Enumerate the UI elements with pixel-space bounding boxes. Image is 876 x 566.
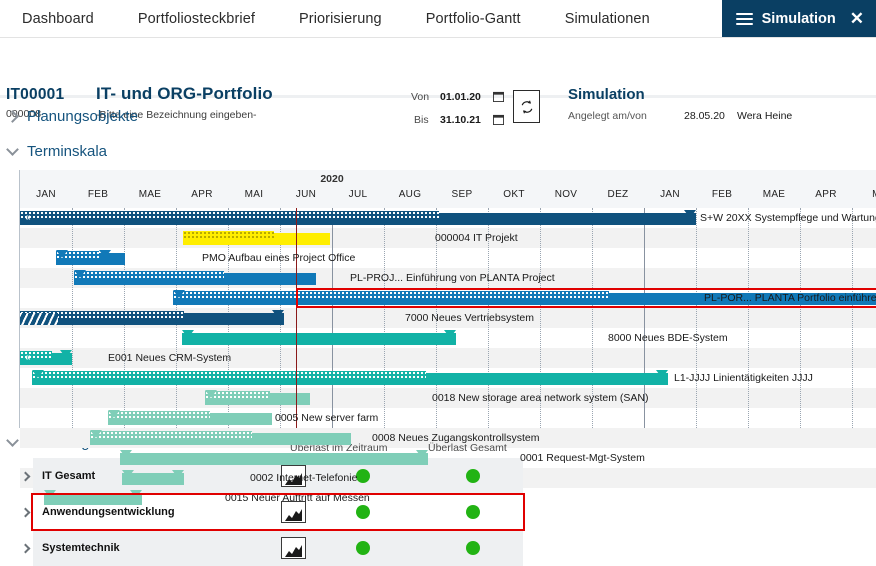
- refresh-icon: [519, 99, 535, 115]
- status-badge-zeitraum: [356, 541, 370, 555]
- gantt-milestone-start-icon: [56, 250, 68, 258]
- section-terminskala[interactable]: Terminskala: [8, 143, 107, 160]
- tab-dashboard[interactable]: Dashboard: [0, 0, 116, 37]
- tab-portfoliosteckbrief[interactable]: Portfoliosteckbrief: [116, 0, 277, 37]
- gantt-gridline: [384, 208, 385, 428]
- gantt-month-label: M.: [852, 189, 876, 200]
- simulation-title: Simulation: [568, 86, 645, 103]
- gantt-gridline: [800, 208, 801, 428]
- gantt-milestone-end-icon: [60, 350, 72, 358]
- gantt-bar[interactable]: [120, 453, 428, 465]
- dept-name: IT Gesamt: [42, 470, 95, 482]
- gantt-gridline: [748, 208, 749, 428]
- status-badge-gesamt: [466, 541, 480, 555]
- tab-simulation-active[interactable]: Simulation ✕: [722, 0, 876, 37]
- gantt-bar-label: 0001 Request-Mgt-System: [520, 452, 645, 464]
- gantt-milestone-start-icon: [32, 370, 44, 378]
- gantt-month-label: JAN: [20, 189, 72, 200]
- record-header: IT00001 000008 IT- und ORG-Portfolio -Bi…: [0, 38, 876, 98]
- gantt-bar-label: E001 Neues CRM-System: [108, 352, 231, 364]
- gantt-bar-baseline: [173, 291, 609, 298]
- gantt-milestone-end-icon: [684, 210, 696, 218]
- gantt-month-label: DEZ: [592, 189, 644, 200]
- chevron-right-icon[interactable]: [21, 507, 31, 517]
- gantt-bar-baseline: [20, 211, 439, 218]
- gantt-year-label: 2020: [280, 173, 384, 185]
- gantt-bar-label: L1-JJJJ Linientätigkeiten JJJJ: [674, 372, 813, 384]
- calendar-icon[interactable]: [493, 91, 504, 102]
- gantt-month-label: JAN: [644, 189, 696, 200]
- from-value[interactable]: 01.01.20: [440, 91, 481, 103]
- gantt-milestone-start-icon: [44, 490, 56, 498]
- dept-name: Anwendungsentwicklung: [42, 506, 175, 518]
- created-label: Angelegt am/von: [568, 110, 647, 122]
- created-date: 28.05.20: [684, 110, 725, 122]
- gantt-milestone-end-icon: [656, 370, 668, 378]
- gantt-month-label: APR: [176, 189, 228, 200]
- gantt-scroll-left-icon[interactable]: «: [25, 352, 30, 363]
- gantt-bar-baseline: [108, 411, 210, 418]
- gantt-scroll-left-icon[interactable]: «: [25, 212, 30, 223]
- gantt-month-label: MAI: [228, 189, 280, 200]
- gantt-month-label: FEB: [72, 189, 124, 200]
- gantt-bar-label: PL-POR... PLANTA Portfolio einführen: [704, 292, 876, 304]
- created-user: Wera Heine: [737, 110, 792, 122]
- gantt-bar-label: 0008 Neues Zugangskontrollsystem: [372, 432, 540, 444]
- bar-chart-icon[interactable]: [281, 501, 306, 523]
- gantt-bar[interactable]: [44, 493, 142, 505]
- section-planungsobjekte[interactable]: Planungsobjekte: [8, 108, 138, 125]
- portfolio-id: IT00001: [6, 86, 64, 104]
- gantt-bar-label: PMO Aufbau eines Project Office: [202, 252, 355, 264]
- gantt-milestone-end-icon: [272, 310, 284, 318]
- gantt-milestone-icon: [99, 250, 111, 258]
- gantt-timescale-header: 2020 JANFEBMAEAPRMAIJUNJULAUGSEPOKTNOVDE…: [20, 170, 876, 208]
- gantt-milestone-end-icon: [130, 490, 142, 498]
- gantt-bar-baseline: [183, 231, 274, 238]
- gantt-milestone-end-icon: [172, 470, 184, 478]
- gantt-milestone-start-icon: [182, 330, 194, 338]
- gantt-milestone-end-icon: [444, 330, 456, 338]
- tab-portfolio-gantt[interactable]: Portfolio-Gantt: [404, 0, 543, 37]
- gantt-milestone-start-icon: [122, 470, 134, 478]
- gantt-milestone-start-icon: [74, 270, 86, 278]
- chevron-right-icon: [6, 110, 19, 123]
- to-label: Bis: [414, 114, 429, 126]
- gantt-month-label: OKT: [488, 189, 540, 200]
- dept-row[interactable]: Systemtechnik: [33, 530, 523, 566]
- close-icon[interactable]: ✕: [845, 10, 864, 27]
- gantt-milestone-start-icon: [90, 430, 102, 438]
- hamburger-icon[interactable]: [736, 10, 753, 28]
- gantt-milestone-start-icon: [173, 290, 185, 298]
- gantt-bar[interactable]: [182, 333, 456, 345]
- refresh-button[interactable]: [513, 90, 540, 123]
- status-badge-zeitraum: [356, 469, 370, 483]
- gantt-bar-label: PL-PROJ... Einführung von PLANTA Project: [350, 272, 555, 284]
- page-title: IT- und ORG-Portfolio: [96, 84, 273, 104]
- gantt-milestone-start-icon: [205, 390, 217, 398]
- gantt-bar-label: 0002 Internet-Telefonie: [250, 472, 357, 484]
- gantt-month-label: AUG: [384, 189, 436, 200]
- chevron-right-icon[interactable]: [21, 543, 31, 553]
- gantt-gridline: [332, 208, 333, 428]
- gantt-bar-baseline: [74, 271, 224, 278]
- gantt-milestone-start-icon: [108, 410, 120, 418]
- active-tab-label: Simulation: [762, 11, 836, 27]
- chevron-down-icon: [6, 434, 19, 447]
- gantt-bar-label: 000004 IT Projekt: [435, 232, 518, 244]
- gantt-chart[interactable]: 2020 JANFEBMAEAPRMAIJUNJULAUGSEPOKTNOVDE…: [19, 170, 876, 428]
- gantt-month-label: APR: [800, 189, 852, 200]
- gantt-bar-baseline: [90, 431, 252, 438]
- status-badge-gesamt: [466, 469, 480, 483]
- gantt-gridline: [852, 208, 853, 428]
- gantt-milestone-end-icon: [416, 450, 428, 458]
- status-badge-gesamt: [466, 505, 480, 519]
- section-terminskala-label: Terminskala: [27, 143, 107, 160]
- gantt-month-label: NOV: [540, 189, 592, 200]
- gantt-month-label: FEB: [696, 189, 748, 200]
- gantt-month-label: MAE: [748, 189, 800, 200]
- tab-bar-spacer: [672, 0, 722, 37]
- tab-bar: Dashboard Portfoliosteckbrief Priorisier…: [0, 0, 876, 38]
- gantt-month-label: JUN: [280, 189, 332, 200]
- gantt-bar-label: 0015 Neuer Auftritt auf Messen: [225, 492, 370, 504]
- gantt-month-label: JUL: [332, 189, 384, 200]
- to-value[interactable]: 31.10.21: [440, 114, 481, 126]
- chevron-down-icon: [6, 143, 19, 156]
- tab-priorisierung[interactable]: Priorisierung: [277, 0, 404, 37]
- gantt-gridline: [696, 208, 697, 428]
- gantt-bar-baseline: [32, 371, 426, 378]
- tab-simulationen[interactable]: Simulationen: [543, 0, 672, 37]
- bar-chart-icon[interactable]: [281, 537, 306, 559]
- gantt-bar-label: S+W 20XX Systempflege und Wartung: [700, 212, 876, 224]
- gantt-month-label: MAE: [124, 189, 176, 200]
- from-label: Von: [411, 91, 429, 103]
- gantt-rows: «S+W 20XX Systempflege und Wartung000004…: [20, 208, 876, 428]
- gantt-milestone-start-icon: [120, 450, 132, 458]
- gantt-bar-label: 0018 New storage area network system (SA…: [432, 392, 649, 404]
- status-badge-zeitraum: [356, 505, 370, 519]
- gantt-bar-label: 7000 Neues Vertriebsystem: [405, 312, 534, 324]
- gantt-bar-hatched: [20, 313, 58, 325]
- gantt-month-label: SEP: [436, 189, 488, 200]
- gantt-bar-label: 8000 Neues BDE-System: [608, 332, 728, 344]
- dept-name: Systemtechnik: [42, 542, 120, 554]
- gantt-bar-label: 0005 New server farm: [275, 412, 378, 424]
- section-planungsobjekte-label: Planungsobjekte: [27, 108, 138, 125]
- gantt-today-marker: [296, 208, 297, 428]
- calendar-icon[interactable]: [493, 114, 504, 125]
